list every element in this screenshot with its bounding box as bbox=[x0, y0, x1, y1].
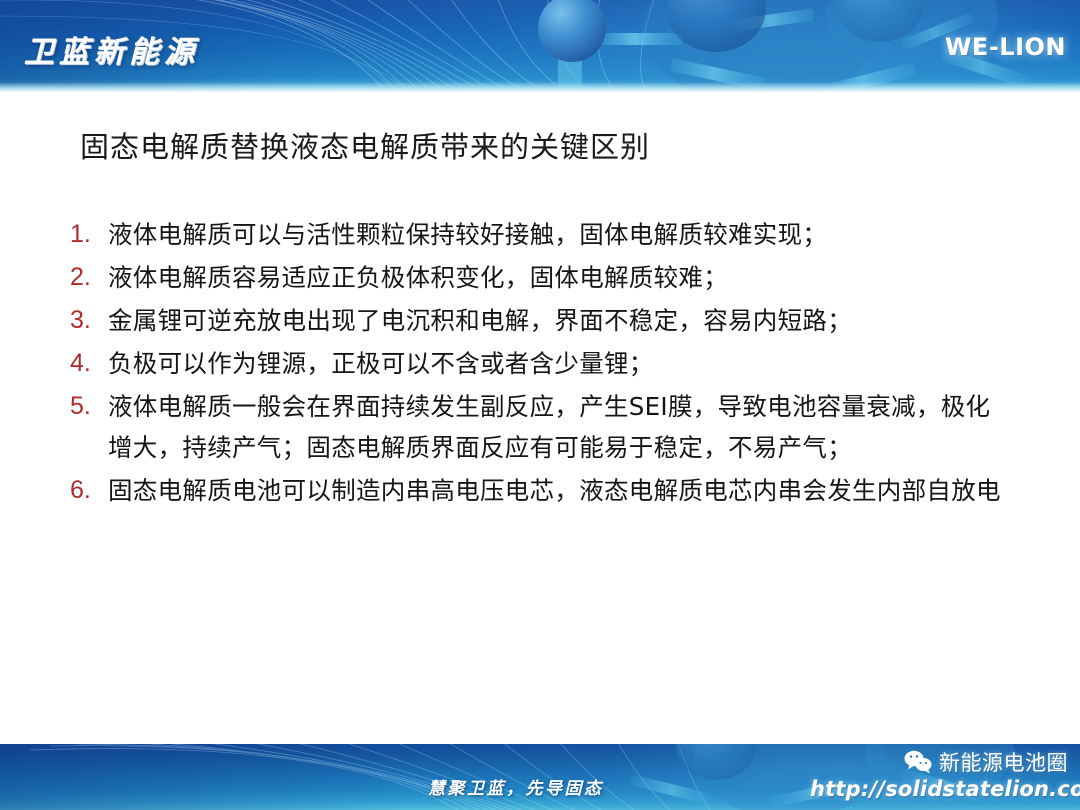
list-item-number: 4. bbox=[62, 343, 108, 384]
list-item-text: 液体电解质一般会在界面持续发生副反应，产生SEI膜，导致电池容量衰减，极化增大，… bbox=[108, 386, 1012, 468]
list-item-number: 1. bbox=[62, 214, 108, 255]
list-item: 3. 金属锂可逆充放电出现了电沉积和电解，界面不稳定，容易内短路； bbox=[62, 300, 1012, 341]
header-bottom-glow bbox=[0, 82, 1080, 92]
list-item-text: 固态电解质电池可以制造内串高电压电芯，液态电解质电芯内串会发生内部自放电 bbox=[108, 470, 1012, 511]
list-item-text: 金属锂可逆充放电出现了电沉积和电解，界面不稳定，容易内短路； bbox=[108, 300, 1012, 341]
list-item: 5. 液体电解质一般会在界面持续发生副反应，产生SEI膜，导致电池容量衰减，极化… bbox=[62, 386, 1012, 468]
list-item: 1. 液体电解质可以与活性颗粒保持较好接触，固体电解质较难实现； bbox=[62, 214, 1012, 255]
list-item-number: 6. bbox=[62, 470, 108, 511]
page-title: 固态电解质替换液态电解质带来的关键区别 bbox=[80, 124, 650, 166]
wechat-icon bbox=[903, 749, 933, 774]
wechat-account-name: 新能源电池圈 bbox=[939, 747, 1068, 777]
wechat-account-block: 新能源电池圈 http://solidstatelion.com bbox=[810, 748, 1068, 806]
slide-content-area: 固态电解质替换液态电解质带来的关键区别 1. 液体电解质可以与活性颗粒保持较好接… bbox=[0, 92, 1080, 744]
company-logo-chinese: 卫蓝新能源 bbox=[24, 27, 199, 71]
list-item: 4. 负极可以作为锂源，正极可以不含或者含少量锂； bbox=[62, 343, 1012, 384]
list-item-number: 2. bbox=[62, 257, 108, 298]
list-item-text: 负极可以作为锂源，正极可以不含或者含少量锂； bbox=[108, 343, 1012, 384]
list-item-text: 液体电解质容易适应正负极体积变化，固体电解质较难； bbox=[108, 257, 1012, 298]
presentation-slide: 卫蓝新能源 WE-LION 固态电解质替换液态电解质带来的关键区别 1. 液体电… bbox=[0, 0, 1080, 810]
company-logo-english: WE-LION bbox=[945, 33, 1066, 61]
slide-header-banner: 卫蓝新能源 WE-LION bbox=[0, 0, 1080, 92]
footer-slogan: 慧聚卫蓝，先导固态 bbox=[428, 774, 604, 799]
list-item-text: 液体电解质可以与活性颗粒保持较好接触，固体电解质较难实现； bbox=[108, 214, 1012, 255]
list-item-number: 5. bbox=[62, 386, 108, 427]
bullet-list: 1. 液体电解质可以与活性颗粒保持较好接触，固体电解质较难实现； 2. 液体电解… bbox=[62, 214, 1012, 513]
wechat-name-row: 新能源电池圈 bbox=[810, 748, 1068, 775]
list-item: 6. 固态电解质电池可以制造内串高电压电芯，液态电解质电芯内串会发生内部自放电 bbox=[62, 470, 1012, 511]
list-item: 2. 液体电解质容易适应正负极体积变化，固体电解质较难； bbox=[62, 257, 1012, 298]
website-url: http://solidstatelion.com bbox=[810, 777, 1068, 801]
list-item-number: 3. bbox=[62, 300, 108, 341]
footer-swirl-lines-icon bbox=[30, 744, 790, 810]
